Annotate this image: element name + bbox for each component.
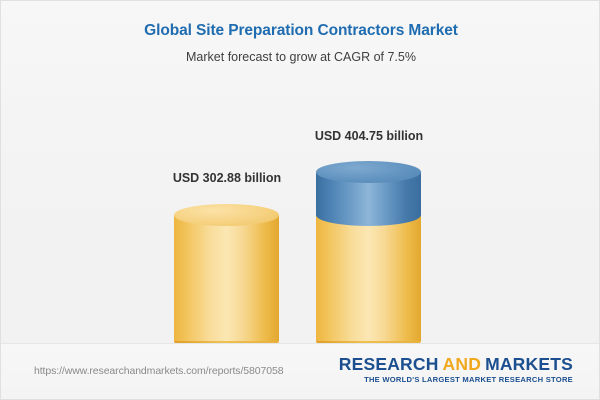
chart-subtitle: Market forecast to grow at CAGR of 7.5% [1,49,600,66]
chart-plot-area: USD 302.88 billion 2023 USD 404.75 billi… [1,91,600,341]
value-label-2027: USD 404.75 billion [259,129,479,143]
bar-group-2027: USD 404.75 billion 2027 [316,126,421,341]
market-infographic: Global Site Preparation Contractors Mark… [0,0,600,400]
cylinder-top-ellipse [316,161,421,183]
value-label-2023: USD 302.88 billion [117,171,337,185]
footer: https://www.researchandmarkets.com/repor… [1,343,600,399]
cylinder-top-ellipse [174,204,279,226]
page-title: Global Site Preparation Contractors Mark… [1,21,600,41]
research-and-markets-logo[interactable]: RESEARCHANDMARKETS THE WORLD'S LARGEST M… [339,354,573,384]
cylinder-2027-growth[interactable] [316,161,421,215]
bar-group-2023: USD 302.88 billion 2023 [174,126,279,341]
logo-wordmark: RESEARCHANDMARKETS [339,354,573,374]
cylinder-2023[interactable] [174,204,279,341]
logo-tagline: THE WORLD'S LARGEST MARKET RESEARCH STOR… [339,375,573,384]
chart-header: Global Site Preparation Contractors Mark… [1,1,600,66]
logo-word-and: AND [443,354,482,374]
logo-word-markets: MARKETS [485,354,573,374]
report-url[interactable]: https://www.researchandmarkets.com/repor… [34,365,283,377]
logo-word-research: RESEARCH [339,354,439,374]
cylinder-body-gold [174,215,279,341]
